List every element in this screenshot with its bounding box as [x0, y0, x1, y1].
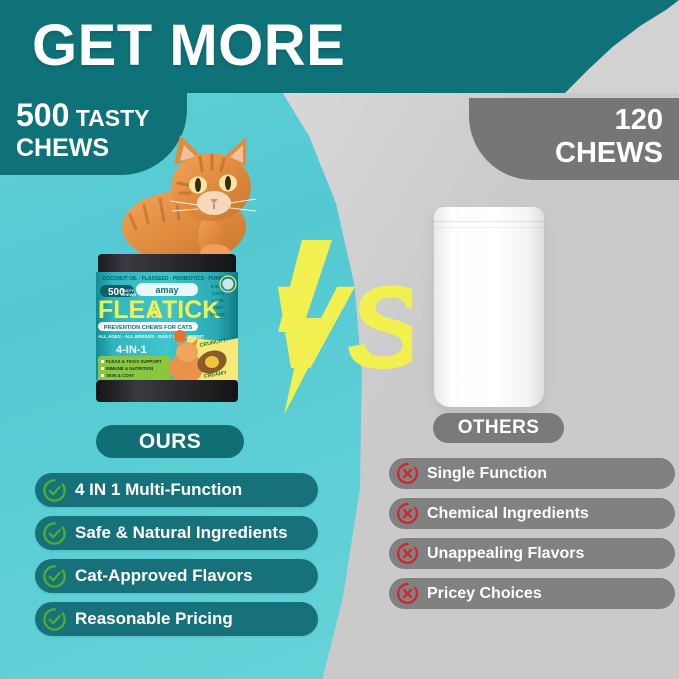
check-circle-icon [41, 606, 68, 633]
list-item: 4 IN 1 Multi-Function [35, 473, 318, 507]
cat-photo [122, 131, 272, 266]
jar-benefit-0: FLEAS & TICKS SUPPORT [106, 359, 162, 364]
others-item-label: Chemical Ingredients [427, 505, 589, 523]
others-drawback-list: Single Function Chemical Ingredients Una… [389, 458, 675, 618]
ours-count-line1: 500 TASTY [16, 100, 173, 133]
check-circle-icon [41, 520, 68, 547]
jar-benefit-2: SKIN & COAT [106, 373, 135, 378]
list-item: Unappealing Flavors [389, 538, 675, 569]
ours-item-label: Safe & Natural Ingredients [75, 523, 288, 543]
jar-formula: 4-IN-1 [116, 344, 147, 356]
vs-graphic: VS [262, 240, 412, 415]
jar-claim-4: TASTE! [210, 312, 226, 317]
x-circle-icon [395, 461, 420, 486]
others-section-title: OTHERS [433, 413, 564, 443]
jar-product-name-amp: & [150, 305, 162, 322]
product-jar-competitor [434, 207, 544, 407]
ours-item-label: Reasonable Pricing [75, 609, 233, 629]
jar-claim-2: LOVE [212, 298, 224, 303]
check-circle-icon [41, 477, 68, 504]
ours-benefit-list: 4 IN 1 Multi-Function Safe & Natural Ing… [35, 473, 318, 645]
x-circle-icon [395, 581, 420, 606]
ours-count-word: TASTY [76, 105, 150, 131]
jar-brand: amay [155, 285, 178, 295]
others-item-label: Single Function [427, 465, 547, 483]
jar-claim-1: CATS [212, 291, 224, 296]
vs-label: VS [268, 262, 412, 394]
ours-count-number: 500 [16, 97, 69, 133]
list-item: Safe & Natural Ingredients [35, 516, 318, 550]
ours-section-title: OURS [96, 425, 244, 458]
list-item: Pricey Choices [389, 578, 675, 609]
others-item-label: Unappealing Flavors [427, 545, 584, 563]
ours-item-label: Cat-Approved Flavors [75, 566, 253, 586]
ours-title-label: OURS [139, 430, 201, 454]
header-banner: GET MORE [0, 0, 679, 93]
others-count-line2: CHEWS [483, 137, 663, 170]
others-count-number: 120 [483, 104, 663, 137]
page-title: GET MORE [32, 14, 345, 78]
check-circle-icon [41, 563, 68, 590]
jar-ingredients: COCONUT OIL · FLAXSEED · PROBIOTICS · PU… [102, 276, 231, 282]
list-item: Chemical Ingredients [389, 498, 675, 529]
jar-claim-3: THIS [213, 305, 223, 310]
product-jar-ours: COCONUT OIL · FLAXSEED · PROBIOTICS · PU… [88, 252, 246, 410]
list-item: Cat-Approved Flavors [35, 559, 318, 593]
comparison-infographic: GET MORE 500 TASTY CHEWS 120 CHEWS [0, 0, 679, 679]
others-title-label: OTHERS [458, 417, 540, 439]
x-circle-icon [395, 541, 420, 566]
list-item: Single Function [389, 458, 675, 489]
others-chew-count-badge: 120 CHEWS [469, 98, 679, 180]
list-item: Reasonable Pricing [35, 602, 318, 636]
ours-item-label: 4 IN 1 Multi-Function [75, 480, 242, 500]
x-circle-icon [395, 501, 420, 526]
others-item-label: Pricey Choices [427, 585, 542, 603]
jar-benefit-1: IMMUNE & NUTRITION [106, 366, 153, 371]
